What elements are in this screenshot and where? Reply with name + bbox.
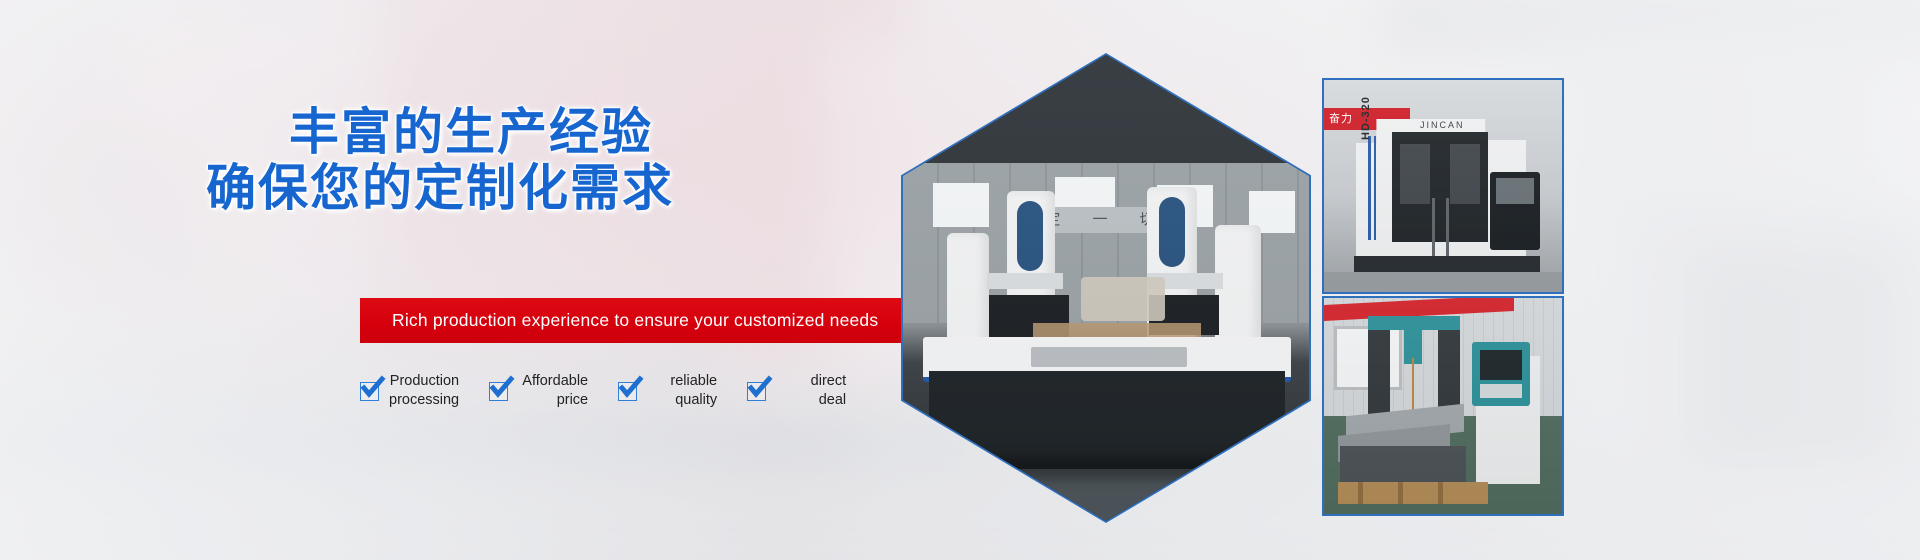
thumbnail-edm-machine[interactable] [1322,296,1564,516]
feature-item-production-processing[interactable]: Production processing [360,372,459,410]
machine-stripe [1374,136,1376,240]
feature-label-line-2: deal [819,392,846,408]
machine-column [1368,328,1390,420]
promo-banner: 丰富的生产经验 确保您的定制化需求 Rich production experi… [0,0,1920,560]
pallet-slat [1398,482,1403,504]
feature-item-direct-deal[interactable]: direct deal [747,372,846,410]
checkbox-checked-icon [747,382,766,401]
feature-label: reliable quality [647,372,717,410]
subtitle-bar: Rich production experience to ensure you… [360,298,903,343]
machine-panel [1159,197,1185,267]
feature-label-line-2: processing [389,392,459,408]
feature-label-line-2: quality [675,392,717,408]
feature-label-line-1: reliable [670,373,717,389]
feature-label: Affordable price [518,372,588,410]
machine-doors [1392,132,1488,242]
machine-column [1215,225,1261,353]
feature-label-line-2: price [557,392,588,408]
pallet-slat [1438,482,1443,504]
feature-label: direct deal [776,372,846,410]
feature-label-line-1: Affordable [522,373,588,389]
feature-item-reliable-quality[interactable]: reliable quality [618,372,717,410]
workshop-window [933,183,989,227]
checkbox-checked-icon [618,382,637,401]
machine-model-label: HD-320 [1360,96,1372,140]
wooden-pallet [1338,482,1488,504]
machine-arm [987,273,1063,289]
checkbox-checked-icon [360,382,379,401]
feature-label-line-1: Production [390,373,459,389]
thumbnail-machining-center[interactable]: 奋力 HD-320 JINCAN [1322,78,1564,294]
door-glass [1400,144,1430,204]
checkbox-checked-icon [489,382,508,401]
machine-workpieces [1081,277,1165,321]
machine-keypad [1480,384,1522,398]
subtitle-text: Rich production experience to ensure you… [360,310,878,331]
machine-brand-label: JINCAN [1420,120,1465,130]
machine-column [947,233,989,353]
machine-bed-window [1031,347,1187,367]
thumb-banner-label: 奋力 [1324,113,1353,125]
headline-line-2: 确保您的定制化需求 [0,160,880,216]
door-glass [1450,144,1480,204]
machine-bed [1340,446,1466,482]
feature-label-line-1: direct [811,373,846,389]
machine-stripe [1368,136,1371,240]
pallet-slat [1358,482,1363,504]
machine-panel [1017,201,1043,271]
machine-screen [1480,350,1522,380]
feature-label: Production processing [389,372,459,410]
headline: 丰富的生产经验 确保您的定制化需求 [0,104,880,216]
headline-line-1: 丰富的生产经验 [0,104,880,160]
feature-item-affordable-price[interactable]: Affordable price [489,372,588,410]
feature-list: Production processing Affordable price r… [360,372,846,410]
thumb-floor [1324,272,1562,292]
machine-screen [1496,178,1534,204]
